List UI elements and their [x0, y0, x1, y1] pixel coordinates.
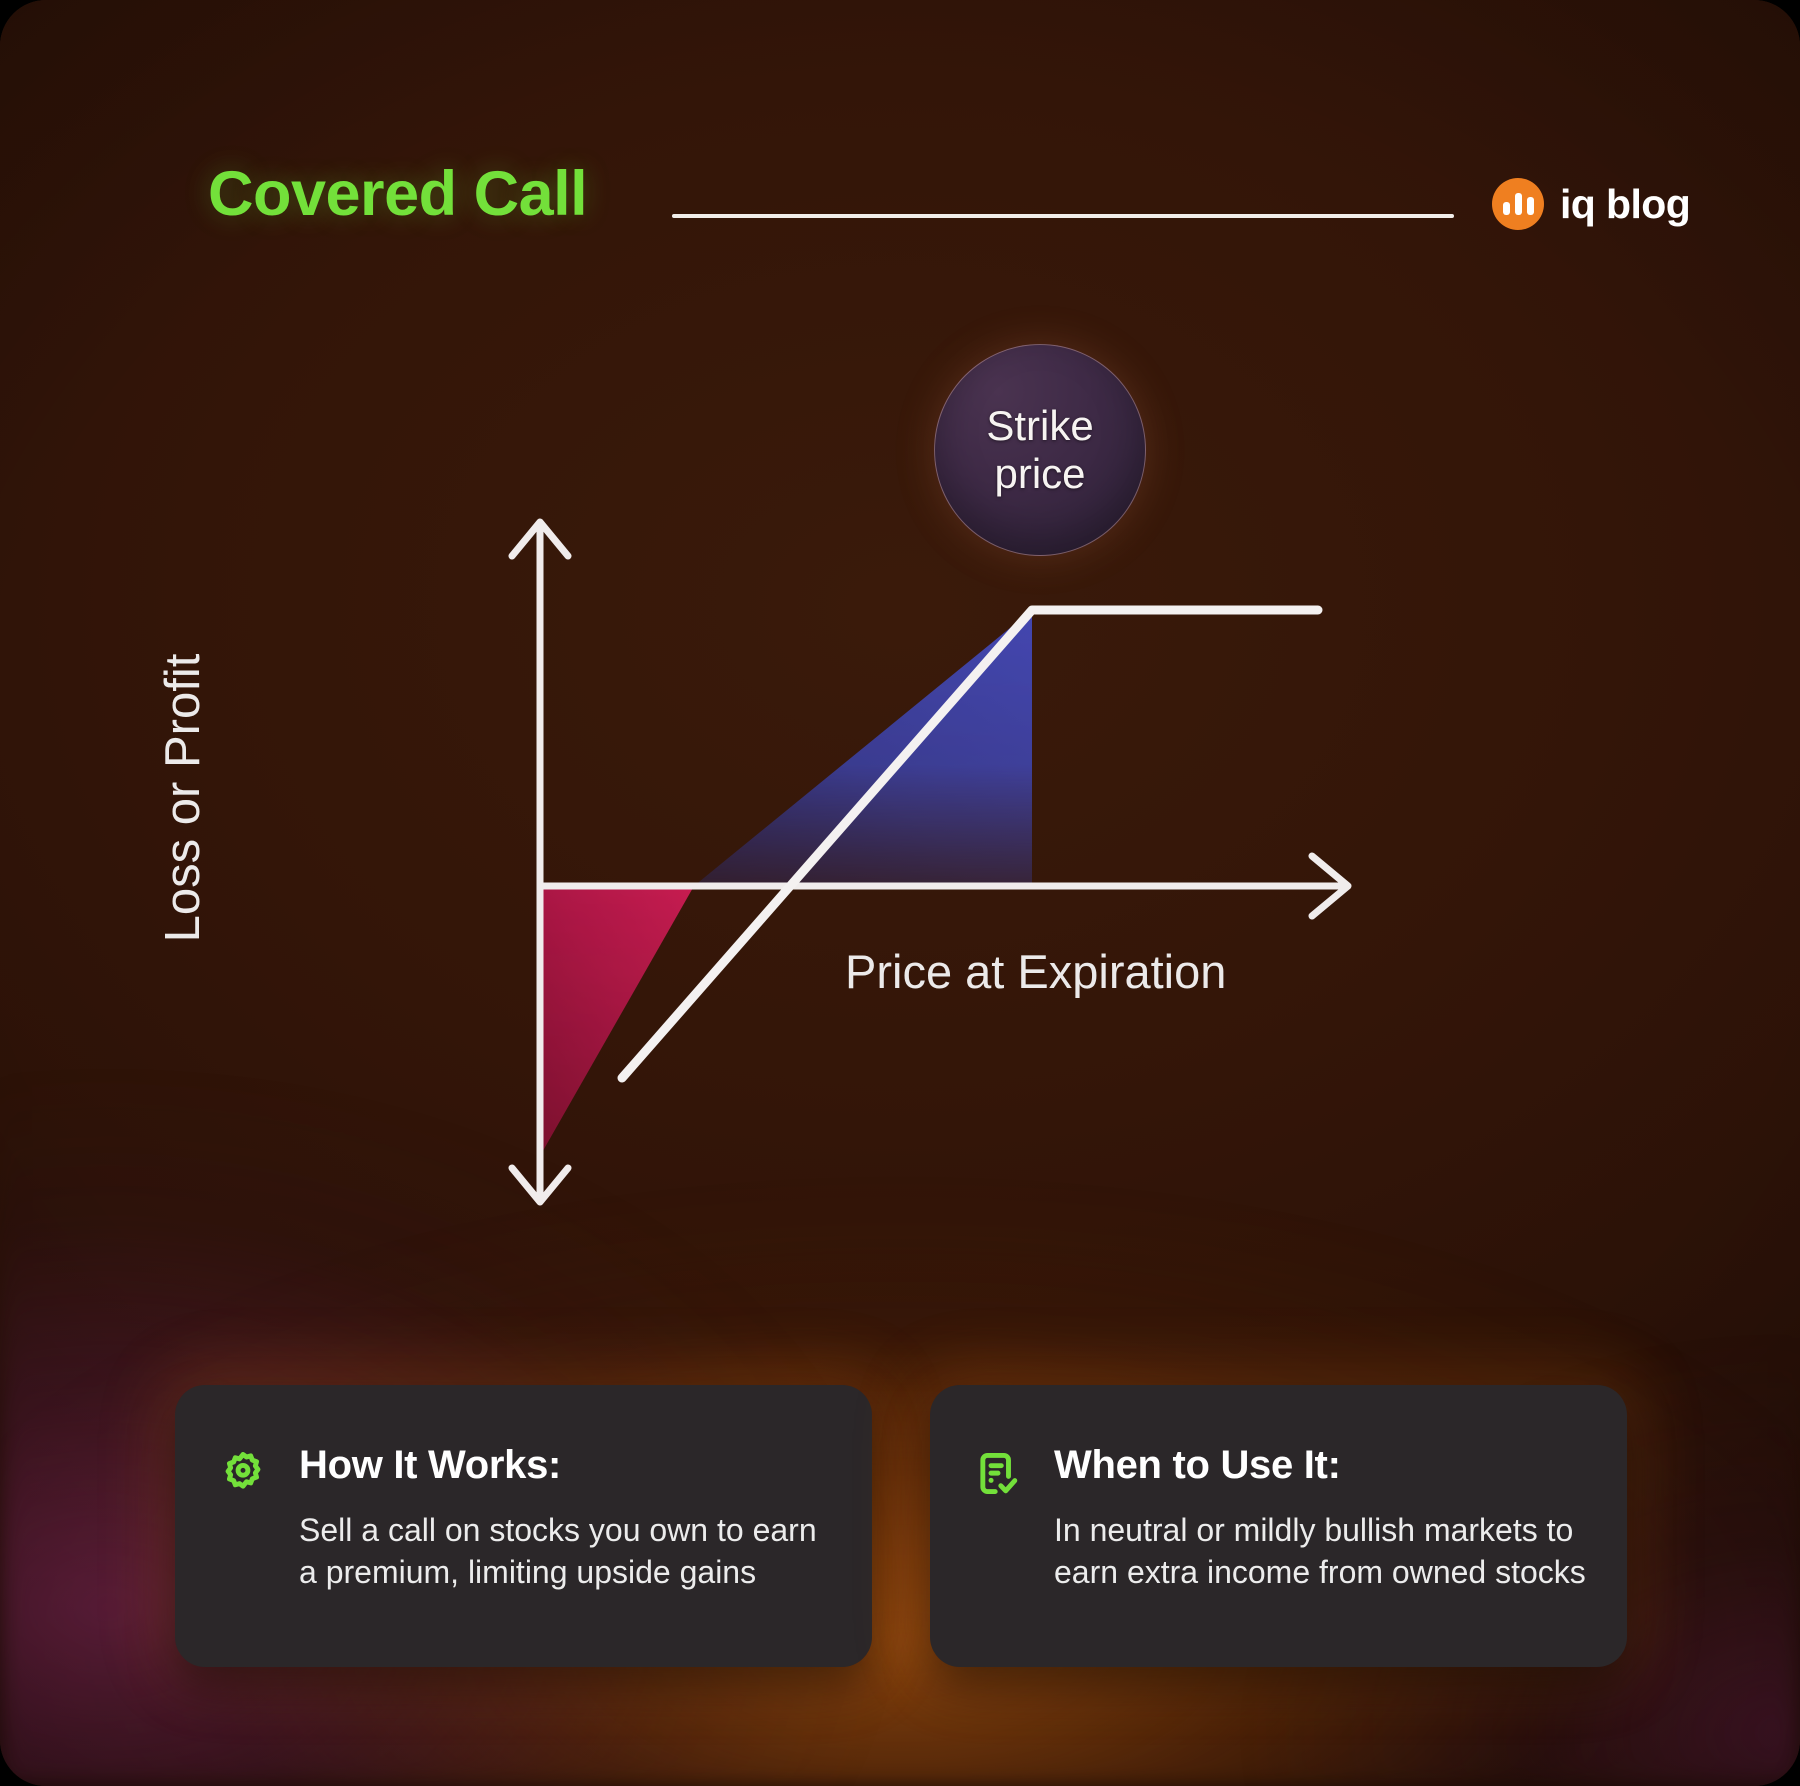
info-cards: How It Works: Sell a call on stocks you … [175, 1385, 1627, 1667]
card-body: How It Works: Sell a call on stocks you … [299, 1443, 832, 1627]
profit-region-fill [694, 610, 1032, 886]
card-title: When to Use It: [1054, 1443, 1587, 1488]
document-check-icon [970, 1443, 1026, 1627]
card-how-it-works: How It Works: Sell a call on stocks you … [175, 1385, 872, 1667]
gear-icon [215, 1443, 271, 1627]
card-title: How It Works: [299, 1443, 832, 1488]
card-text: In neutral or mildly bullish markets to … [1054, 1510, 1587, 1593]
card-body: When to Use It: In neutral or mildly bul… [1054, 1443, 1587, 1627]
payoff-chart [0, 0, 1800, 1340]
x-axis-label: Price at Expiration [845, 944, 1226, 999]
y-axis-label: Loss or Profit [155, 588, 211, 1008]
card-text: Sell a call on stocks you own to earn a … [299, 1510, 832, 1593]
infographic-canvas: Covered Call iq blog Strike price [0, 0, 1800, 1786]
card-when-to-use-it: When to Use It: In neutral or mildly bul… [930, 1385, 1627, 1667]
